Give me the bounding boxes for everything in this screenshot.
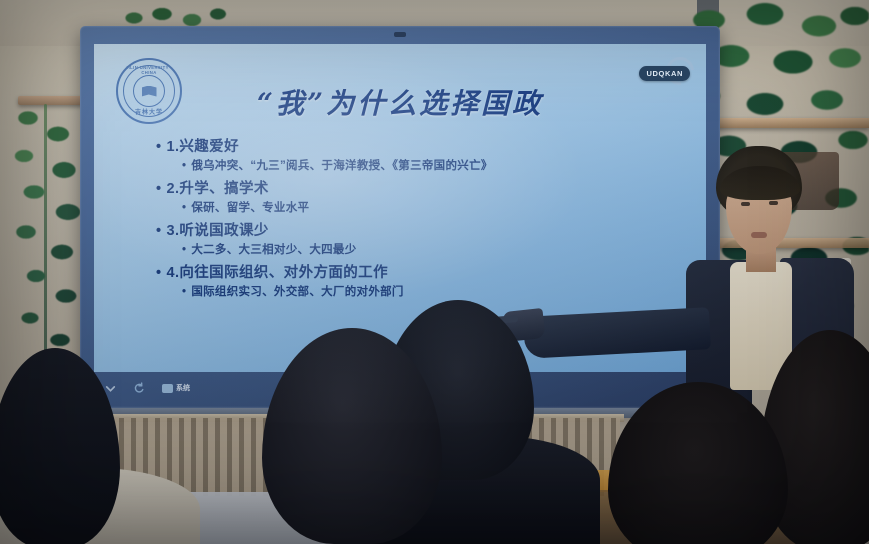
bullet-level1-text: 3.听说国政课少 bbox=[166, 223, 268, 239]
bullet-marker-icon: • bbox=[156, 181, 161, 197]
presenter-eye-right bbox=[769, 201, 778, 205]
bullet-marker-icon: • bbox=[182, 202, 186, 214]
bullet-marker-icon: • bbox=[156, 139, 161, 155]
bullet-level1-text: 4.向往国际组织、对外方面的工作 bbox=[166, 265, 388, 281]
watermark-label: UDQKAN bbox=[639, 66, 690, 81]
bullet-level2-text: 国际组织实习、外交部、大厂的对外部门 bbox=[191, 286, 403, 298]
bullet-level2-text: 大二多、大三相对少、大四最少 bbox=[191, 244, 356, 256]
undo-arrow-icon[interactable] bbox=[133, 382, 146, 395]
bullet-marker-icon: • bbox=[182, 160, 186, 172]
bullet-marker-icon: • bbox=[182, 286, 186, 298]
system-app-icon bbox=[162, 384, 173, 393]
bullet-level1-text: 1.兴趣爱好 bbox=[166, 139, 239, 155]
bullet-level2-text: 俄乌冲突、“九三”阅兵、于海洋教授、《第三帝国的兴亡》 bbox=[191, 160, 492, 172]
presenter-pointing-arm bbox=[523, 307, 711, 359]
bullet-level1-text: 2.升学、搞学术 bbox=[166, 181, 268, 197]
classroom-scene: JILIN UNIVERSITY · CHINA 吉林大学 “我”为什么选择国政… bbox=[0, 0, 869, 544]
bullet-marker-icon: • bbox=[156, 265, 161, 281]
seal-text-top: JILIN UNIVERSITY · CHINA bbox=[118, 65, 180, 75]
bullet-marker-icon: • bbox=[156, 223, 161, 239]
system-app-chip[interactable]: 系统 bbox=[162, 383, 190, 393]
bullet-level2-text: 保研、留学、专业水平 bbox=[191, 202, 309, 214]
system-app-label: 系统 bbox=[176, 383, 190, 393]
camera-icon bbox=[394, 32, 406, 37]
bullet-marker-icon: • bbox=[182, 244, 186, 256]
presenter-mouth bbox=[751, 232, 767, 238]
presenter-eye-left bbox=[741, 202, 750, 206]
watermark-badge: UDQKAN bbox=[639, 66, 690, 81]
slide-title: “我”为什么选择国政 bbox=[94, 82, 706, 122]
